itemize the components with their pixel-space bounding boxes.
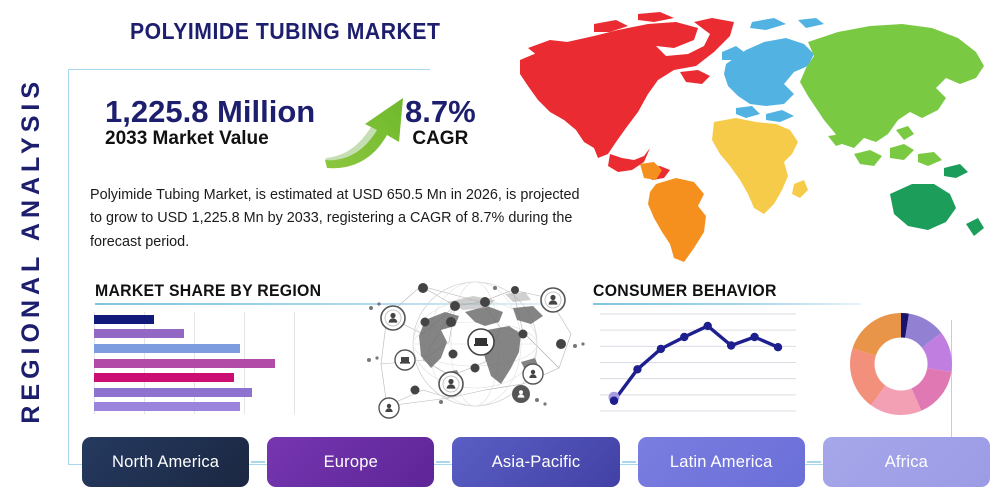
line-chart-marker bbox=[750, 333, 758, 341]
region-tab-north-america[interactable]: North America bbox=[82, 437, 249, 487]
bar-fill bbox=[94, 373, 234, 382]
consumer-behavior-donut-chart bbox=[849, 311, 953, 417]
section-title-market-share: MARKET SHARE BY REGION bbox=[95, 281, 321, 301]
line-chart-marker bbox=[610, 397, 618, 405]
donut-chart-svg bbox=[849, 311, 953, 417]
region-tab-africa[interactable]: Africa bbox=[823, 437, 990, 487]
line-chart-svg bbox=[600, 310, 796, 415]
consumer-behavior-line-chart bbox=[600, 310, 796, 415]
map-region-south-america bbox=[640, 162, 706, 262]
section-rule-consumer-behavior bbox=[593, 303, 861, 305]
market-value-kpi: 1,225.8 Million 2033 Market Value bbox=[105, 96, 315, 151]
map-region-asia bbox=[800, 24, 984, 166]
map-region-oceania bbox=[890, 164, 984, 236]
regional-analysis-sidebar: REGIONAL ANALYSIS bbox=[0, 0, 62, 500]
map-region-africa bbox=[712, 118, 808, 214]
line-chart-marker bbox=[704, 322, 712, 330]
bar-chart-gridline bbox=[294, 312, 295, 414]
line-chart-marker bbox=[727, 341, 735, 349]
bar-chart-bar bbox=[94, 388, 252, 397]
line-chart-marker bbox=[774, 343, 782, 351]
regional-analysis-label: REGIONAL ANALYSIS bbox=[17, 77, 46, 424]
bar-fill bbox=[94, 315, 154, 324]
tab-connector bbox=[436, 461, 450, 463]
tab-connector bbox=[622, 461, 636, 463]
growth-arrow-icon bbox=[321, 90, 411, 170]
bar-fill bbox=[94, 402, 240, 411]
region-tab-europe[interactable]: Europe bbox=[267, 437, 434, 487]
tab-connector bbox=[251, 461, 265, 463]
line-chart-marker bbox=[680, 333, 688, 341]
map-region-north-america bbox=[520, 12, 734, 180]
line-chart-marker bbox=[633, 365, 641, 373]
region-tabs: North AmericaEuropeAsia-PacificLatin Ame… bbox=[82, 437, 990, 487]
bar-chart-bar bbox=[94, 402, 240, 411]
bar-chart-bar bbox=[94, 359, 275, 368]
market-value-caption: 2033 Market Value bbox=[105, 127, 315, 151]
bar-chart-bar bbox=[94, 373, 234, 382]
market-value-amount: 1,225.8 Million bbox=[105, 96, 315, 127]
bar-fill bbox=[94, 344, 240, 353]
cagr-caption: CAGR bbox=[405, 127, 476, 151]
kpi-row: 1,225.8 Million 2033 Market Value 8.7% C… bbox=[105, 96, 495, 171]
cagr-kpi: 8.7% CAGR bbox=[405, 96, 476, 151]
market-share-bar-chart bbox=[94, 312, 294, 414]
global-network-icon bbox=[363, 272, 588, 424]
bar-chart-bar bbox=[94, 315, 154, 324]
region-tab-latin-america[interactable]: Latin America bbox=[638, 437, 805, 487]
world-map-icon bbox=[498, 8, 996, 270]
donut-slice bbox=[852, 313, 901, 356]
bar-chart-bar bbox=[94, 329, 184, 338]
cagr-value: 8.7% bbox=[405, 96, 476, 127]
bar-fill bbox=[94, 388, 252, 397]
region-tab-asia-pacific[interactable]: Asia-Pacific bbox=[452, 437, 619, 487]
bar-fill bbox=[94, 359, 275, 368]
line-chart-marker bbox=[657, 345, 665, 353]
page-title: POLYIMIDE TUBING MARKET bbox=[130, 18, 441, 45]
bar-chart-bar bbox=[94, 344, 240, 353]
bar-fill bbox=[94, 329, 184, 338]
section-title-consumer-behavior: CONSUMER BEHAVIOR bbox=[593, 281, 777, 301]
tab-connector bbox=[807, 461, 821, 463]
